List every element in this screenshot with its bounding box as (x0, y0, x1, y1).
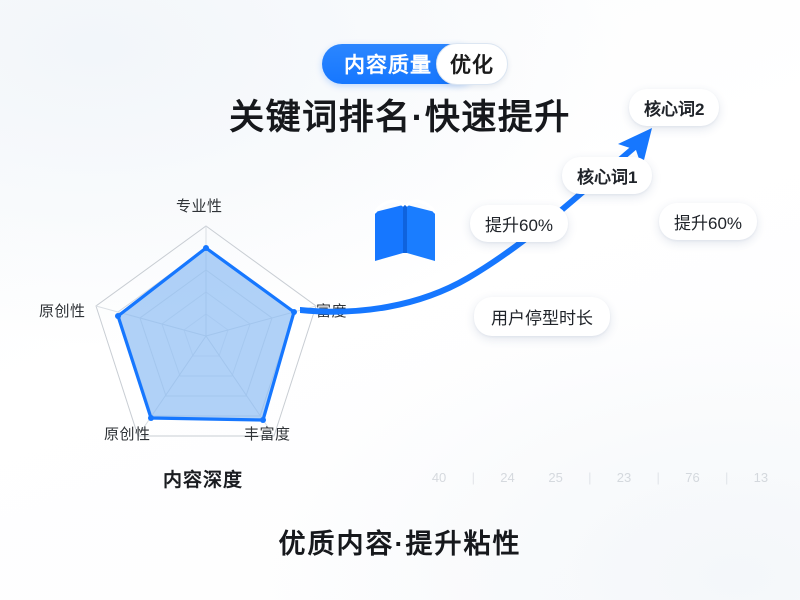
faint-scale-item: 13 (737, 470, 785, 485)
open-book-icon (369, 187, 441, 271)
content-quality-badge: 内容质量 优化 (322, 44, 478, 84)
radar-axis-label-top: 专业性 (176, 195, 223, 216)
radar-axis-label-left: 原创性 (39, 300, 86, 321)
footer-slogan: 优质内容·提升粘性 (0, 522, 800, 561)
faint-scale-item: 24 (483, 470, 531, 485)
pill-keyword-2[interactable]: 核心词2 (629, 89, 719, 126)
badge-chip-label: 优化 (436, 43, 508, 85)
faint-scale-item: | (717, 470, 737, 485)
badge-main-label: 内容质量 (344, 49, 432, 79)
radar-caption: 内容深度 (163, 465, 243, 492)
faint-scale-item: | (580, 470, 600, 485)
faint-scale-item: 23 (600, 470, 648, 485)
faint-scale-item: 76 (668, 470, 716, 485)
badge-container: 内容质量 优化 (0, 44, 800, 84)
faint-scale-item: | (648, 470, 668, 485)
pill-uplift-right[interactable]: 提升60% (659, 203, 757, 240)
faint-scale-item: 40 (415, 470, 463, 485)
faint-scale-item: | (463, 470, 483, 485)
faint-axis-scale: 40 | 24 25 | 23 | 76 | 13 (415, 466, 785, 488)
infographic-canvas: 内容质量 优化 关键词排名·快速提升 (0, 0, 800, 600)
radar-data-area (118, 248, 294, 420)
pill-uplift-left[interactable]: 提升60% (470, 205, 568, 242)
radar-axis-label-bottom-right: 丰富度 (244, 423, 291, 444)
pill-dwell-time[interactable]: 用户停型时长 (474, 297, 610, 336)
pill-keyword-1[interactable]: 核心词1 (562, 157, 652, 194)
faint-scale-item: 25 (532, 470, 580, 485)
radar-axis-label-bottom-left: 原创性 (104, 423, 151, 444)
